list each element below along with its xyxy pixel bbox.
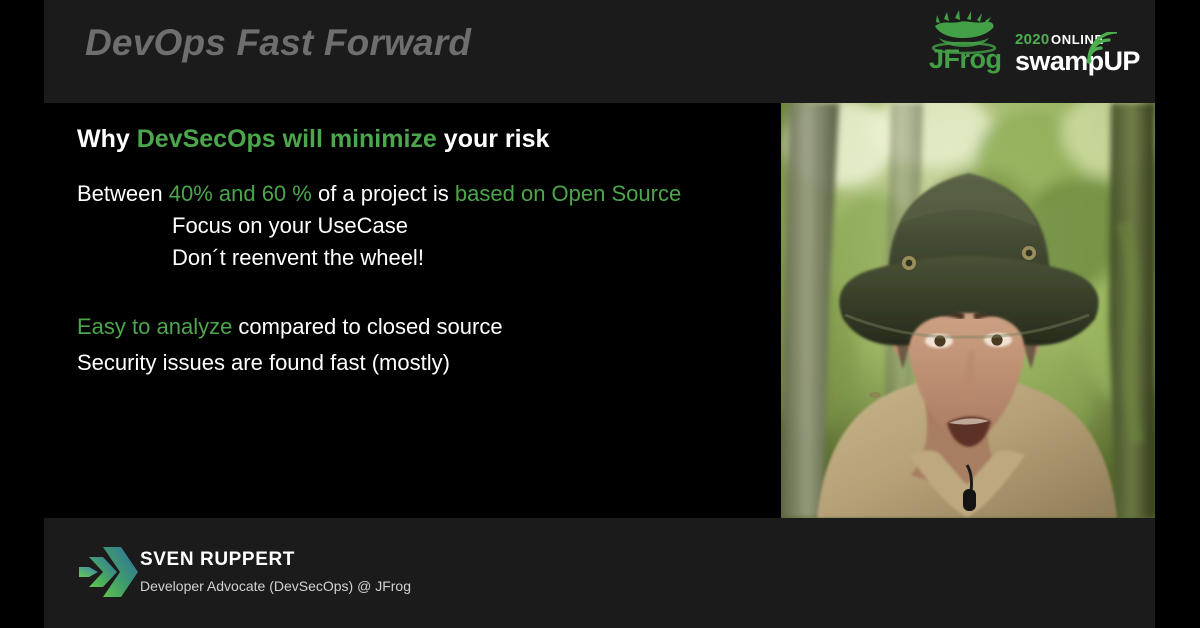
heading-part1: Why	[77, 125, 137, 153]
p1-open-source-highlight: based on Open Source	[455, 181, 681, 206]
paragraph-easy-analyze: Easy to analyze compared to closed sourc…	[77, 314, 503, 340]
swampup-wordmark: swampUP	[1015, 48, 1140, 75]
jfrog-wordmark: JFrog	[929, 46, 1002, 73]
content-heading: Why DevSecOps will minimize your risk	[77, 125, 549, 154]
wifi-dot	[1086, 58, 1091, 63]
slide-header: DevOps Fast Forward	[44, 0, 1155, 103]
swampup-logo: JFrog 2020 ONLINE swampUP	[929, 10, 1121, 80]
bullet-focus-usecase: Focus on your UseCase	[172, 213, 408, 239]
p1-part2: of a project is	[312, 181, 455, 206]
video-frame-image	[781, 103, 1155, 518]
lavalier-microphone	[963, 489, 976, 511]
p1-percentage-highlight: 40% and 60 %	[169, 181, 312, 206]
paragraph-security-issues: Security issues are found fast (mostly)	[77, 350, 450, 376]
page-title: DevOps Fast Forward	[85, 22, 471, 64]
p2-rest: compared to closed source	[232, 314, 502, 339]
speaker-name: SVEN RUPPERT	[140, 549, 295, 571]
chevron-arrows-logo	[77, 543, 139, 601]
presentation-slide: DevOps Fast Forward	[44, 0, 1155, 628]
slide-footer: SVEN RUPPERT Developer Advocate (DevSecO…	[44, 518, 1155, 628]
speaker-role: Developer Advocate (DevSecOps) @ JFrog	[140, 578, 411, 594]
paragraph-open-source: Between 40% and 60 % of a project is bas…	[77, 181, 681, 207]
heading-part2: your risk	[437, 125, 550, 153]
screenshot-canvas: DevOps Fast Forward	[0, 0, 1200, 628]
p1-part1: Between	[77, 181, 169, 206]
bullet-dont-reinvent: Don´t reenvent the wheel!	[172, 245, 424, 271]
heading-highlight: DevSecOps will minimize	[137, 125, 437, 153]
wifi-signal-icon	[1083, 32, 1117, 66]
p2-highlight: Easy to analyze	[77, 314, 232, 339]
speaker-video-feed[interactable]	[781, 103, 1155, 518]
logo-year: 2020	[1015, 32, 1050, 47]
